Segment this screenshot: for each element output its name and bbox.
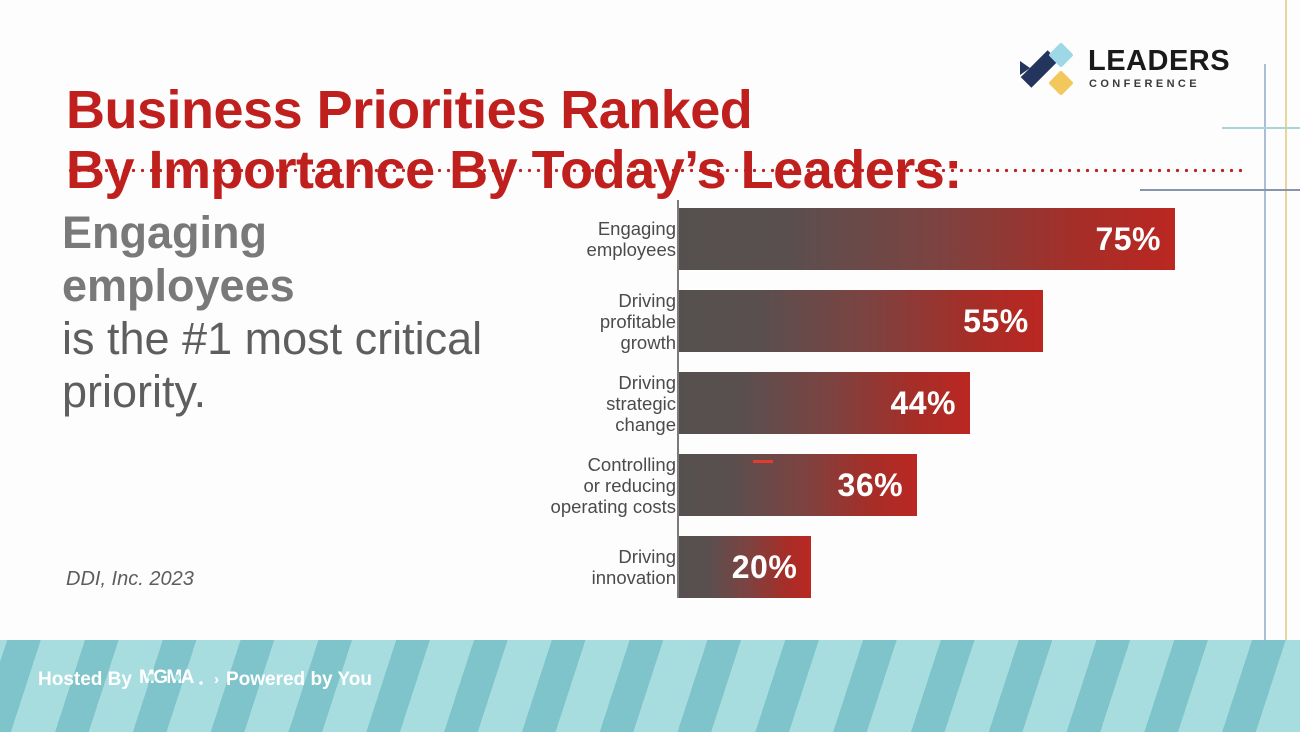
footer-powered-by-label: Powered by You bbox=[226, 669, 372, 691]
decorative-horizontal-line-teal bbox=[1222, 127, 1300, 129]
logo-subtitle: CONFERENCE bbox=[1089, 78, 1200, 90]
chart-bar-row: Driving innovation20% bbox=[520, 536, 1220, 598]
footer-bar: Hosted By MGMA › Powered by You bbox=[0, 640, 1300, 732]
page-title-line-1: Business Priorities Ranked bbox=[66, 80, 1066, 140]
title-dotted-rule bbox=[66, 168, 1246, 173]
chart-bar-row: Driving profitable growth55% bbox=[520, 290, 1220, 352]
slide-canvas: Business Priorities Ranked By Importance… bbox=[0, 0, 1300, 732]
chart-bar-rows: Engaging employees75%Driving profitable … bbox=[520, 196, 1220, 600]
mgma-wordmark-icon: MGMA bbox=[139, 666, 207, 687]
decorative-vertical-line-yellow bbox=[1285, 0, 1287, 732]
leaders-x-mark-icon: LEADERS CONFERENCE bbox=[1016, 40, 1241, 98]
key-statement-light: is the #1 most critical priority. bbox=[62, 312, 492, 418]
source-attribution: DDI, Inc. 2023 bbox=[66, 568, 194, 591]
chart-bar: 20% bbox=[679, 536, 811, 598]
page-title: Business Priorities Ranked By Importance… bbox=[66, 80, 1066, 200]
footer-separator: › bbox=[214, 671, 219, 688]
leaders-conference-logo: LEADERS CONFERENCE bbox=[1016, 40, 1241, 98]
chart-category-label: Driving strategic change bbox=[446, 372, 676, 435]
chart-category-label: Driving profitable growth bbox=[446, 290, 676, 353]
svg-text:MGMA: MGMA bbox=[139, 667, 195, 687]
priorities-bar-chart: Engaging employees75%Driving profitable … bbox=[520, 196, 1220, 600]
chart-bar: 75% bbox=[679, 208, 1175, 270]
footer-text: Hosted By MGMA › Powered by You bbox=[38, 666, 372, 693]
key-statement-bold: Engaging employees bbox=[62, 206, 492, 312]
chart-bar: 36% bbox=[679, 454, 917, 516]
footer-hosted-by-label: Hosted By bbox=[38, 669, 132, 691]
chart-value-label: 55% bbox=[963, 303, 1043, 340]
key-statement: Engaging employees is the #1 most critic… bbox=[62, 206, 492, 418]
chart-value-label: 36% bbox=[838, 467, 918, 504]
chart-bar: 55% bbox=[679, 290, 1043, 352]
chart-value-label: 20% bbox=[732, 549, 812, 586]
chart-bar: 44% bbox=[679, 372, 970, 434]
mgma-logo: MGMA bbox=[139, 666, 207, 693]
chart-category-label: Driving innovation bbox=[446, 546, 676, 588]
decorative-vertical-line-blue bbox=[1264, 64, 1266, 724]
chart-category-label: Engaging employees bbox=[446, 218, 676, 260]
chart-bar-row: Controlling or reducing operating costs3… bbox=[520, 454, 1220, 516]
chart-bar-row: Engaging employees75% bbox=[520, 208, 1220, 270]
chart-category-label: Controlling or reducing operating costs bbox=[446, 454, 676, 517]
chart-value-label: 75% bbox=[1095, 221, 1175, 258]
stray-red-dash-mark bbox=[753, 460, 773, 463]
logo-wordmark: LEADERS bbox=[1088, 45, 1230, 77]
decorative-horizontal-line-gray-right bbox=[1222, 189, 1300, 191]
chart-bar-row: Driving strategic change44% bbox=[520, 372, 1220, 434]
chart-value-label: 44% bbox=[890, 385, 970, 422]
